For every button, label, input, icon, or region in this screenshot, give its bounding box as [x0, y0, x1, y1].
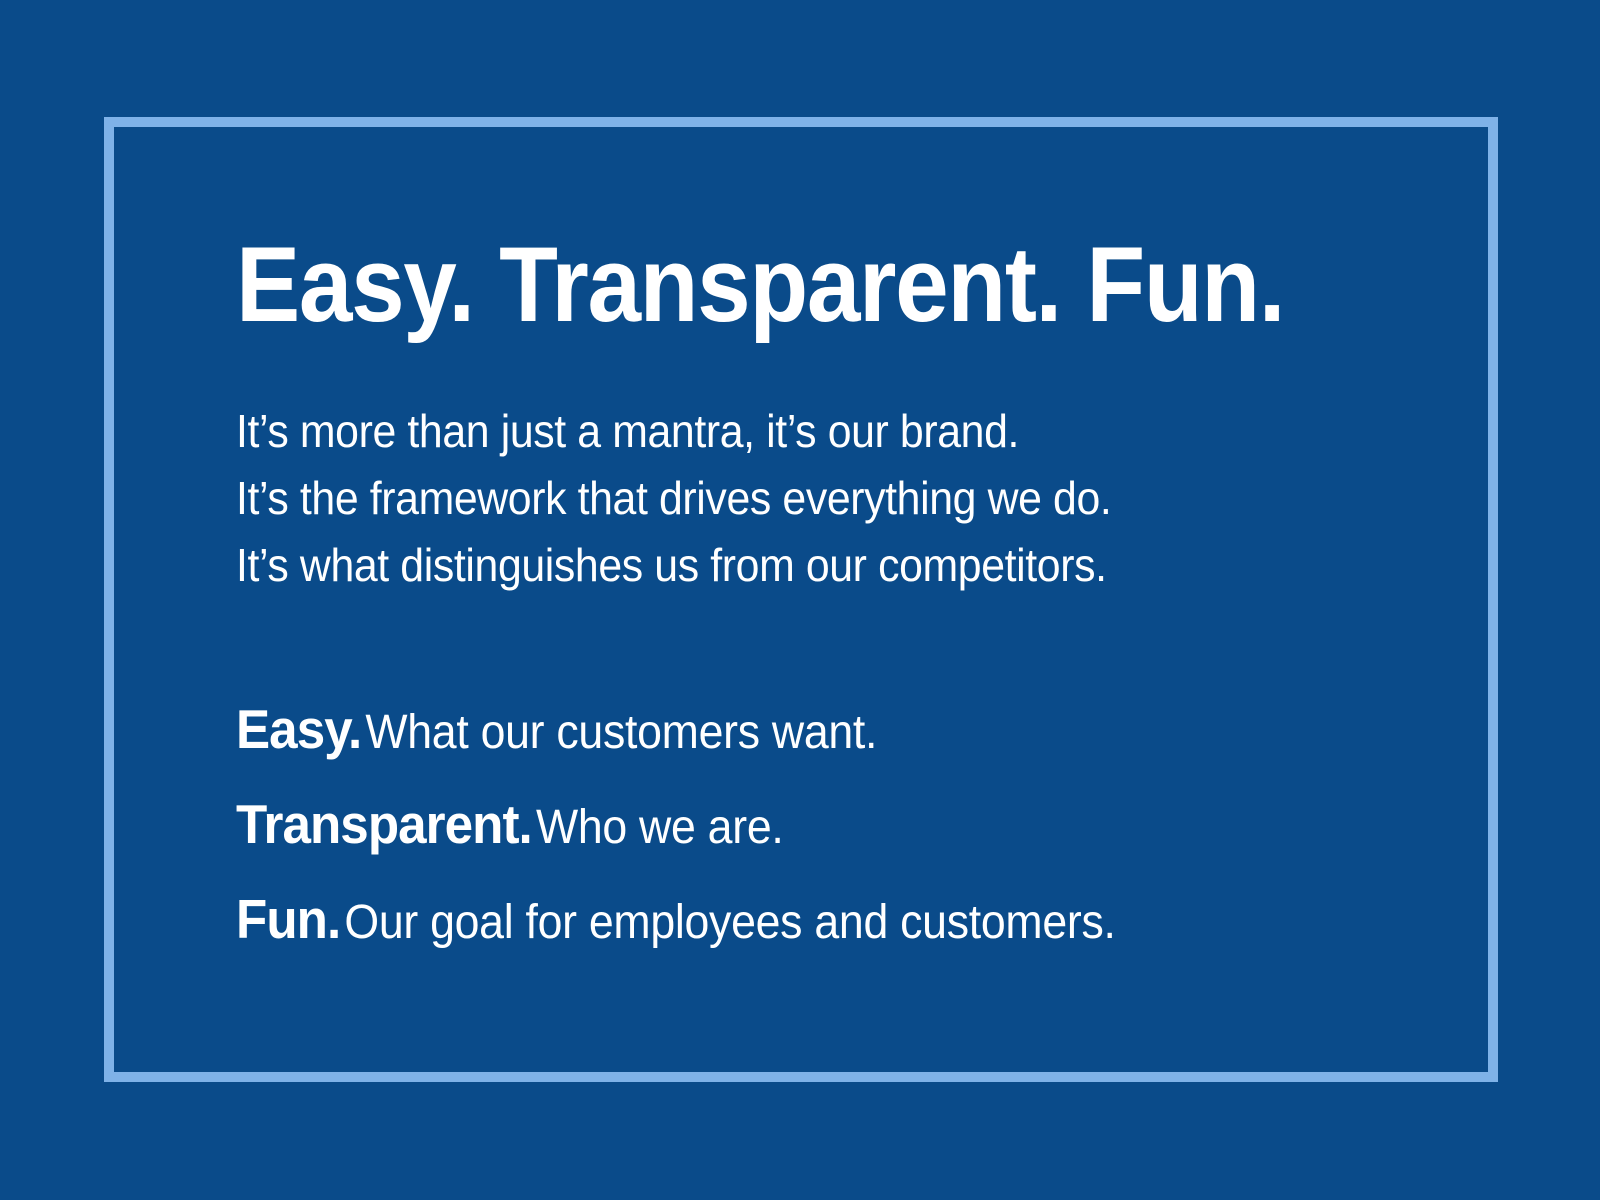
brand-mantra-slide: Easy. Transparent. Fun. It’s more than j… — [0, 0, 1600, 1200]
slide-content: Easy. Transparent. Fun. It’s more than j… — [236, 228, 1416, 974]
definition-term-transparent: Transparent. — [236, 793, 532, 855]
intro-line-3: It’s what distinguishes us from our comp… — [236, 532, 1333, 599]
intro-paragraph: It’s more than just a mantra, it’s our b… — [236, 398, 1333, 599]
intro-line-1: It’s more than just a mantra, it’s our b… — [236, 398, 1333, 465]
definition-list: Easy. What our customers want. Transpare… — [236, 689, 1416, 974]
intro-line-2: It’s the framework that drives everythin… — [236, 465, 1333, 532]
definition-gloss-transparent: Who we are. — [536, 801, 784, 854]
definition-gloss-easy: What our customers want. — [365, 706, 877, 759]
definition-item-easy: Easy. What our customers want. — [236, 689, 1333, 784]
definition-gloss-fun: Our goal for employees and customers. — [344, 896, 1115, 949]
definition-term-fun: Fun. — [236, 888, 340, 950]
definition-item-fun: Fun. Our goal for employees and customer… — [236, 879, 1333, 974]
definition-item-transparent: Transparent. Who we are. — [236, 784, 1333, 879]
slide-headline: Easy. Transparent. Fun. — [236, 228, 1298, 340]
definition-term-easy: Easy. — [236, 698, 361, 760]
